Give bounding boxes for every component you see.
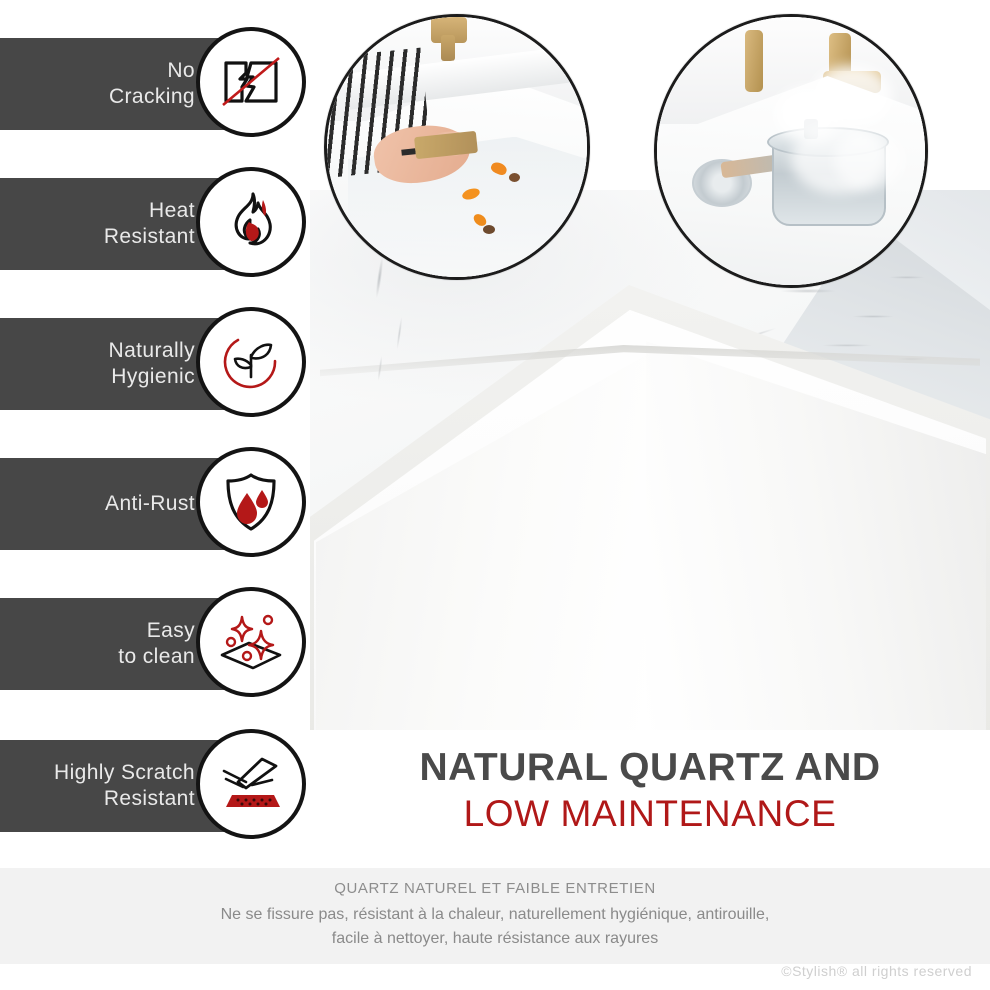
flame-icon — [222, 191, 280, 253]
farmhouse-sink — [310, 285, 990, 730]
footer-line-2-fr: facile à nettoyer, haute résistance aux … — [0, 930, 990, 948]
knife-scratch-icon — [216, 755, 286, 813]
feature-label: Heat Resistant — [104, 198, 195, 250]
feature-label: Easy to clean — [118, 618, 195, 670]
no-cracking-icon — [220, 53, 282, 111]
feature-badge — [196, 587, 306, 697]
infographic-root: No Cracking Heat Resistant — [0, 0, 990, 990]
sparkle-surface-icon — [216, 611, 286, 673]
headline-line-1: NATURAL QUARTZ AND — [310, 745, 990, 791]
copyright-notice: ©Stylish® all rights reserved — [781, 963, 972, 979]
inset-photo-easy-clean — [324, 14, 590, 280]
shield-droplet-icon — [222, 471, 280, 533]
feature-badge — [196, 307, 306, 417]
footer-line-1-fr: Ne se fissure pas, résistant à la chaleu… — [0, 906, 990, 924]
faucet-icon — [431, 17, 467, 43]
feature-label: Anti-Rust — [105, 491, 195, 517]
food-debris — [483, 225, 495, 234]
plant-hygienic-icon — [218, 330, 284, 394]
footer-band: QUARTZ NATUREL ET FAIBLE ENTRETIEN Ne se… — [0, 868, 990, 964]
feature-badge — [196, 27, 306, 137]
footer-heading-fr: QUARTZ NATUREL ET FAIBLE ENTRETIEN — [0, 880, 990, 897]
headline-block: NATURAL QUARTZ AND LOW MAINTENANCE — [310, 745, 990, 837]
feature-label: Highly Scratch Resistant — [54, 760, 195, 812]
feature-label: Naturally Hygienic — [109, 338, 195, 390]
feature-badge — [196, 167, 306, 277]
food-debris — [509, 173, 520, 182]
feature-badge — [196, 729, 306, 839]
feature-badge — [196, 447, 306, 557]
faucet-icon — [745, 30, 763, 92]
steam-puff — [834, 130, 904, 190]
headline-line-2: LOW MAINTENANCE — [310, 791, 990, 837]
inset-photo-heat-resistant — [654, 14, 928, 288]
feature-label: No Cracking — [109, 58, 195, 110]
